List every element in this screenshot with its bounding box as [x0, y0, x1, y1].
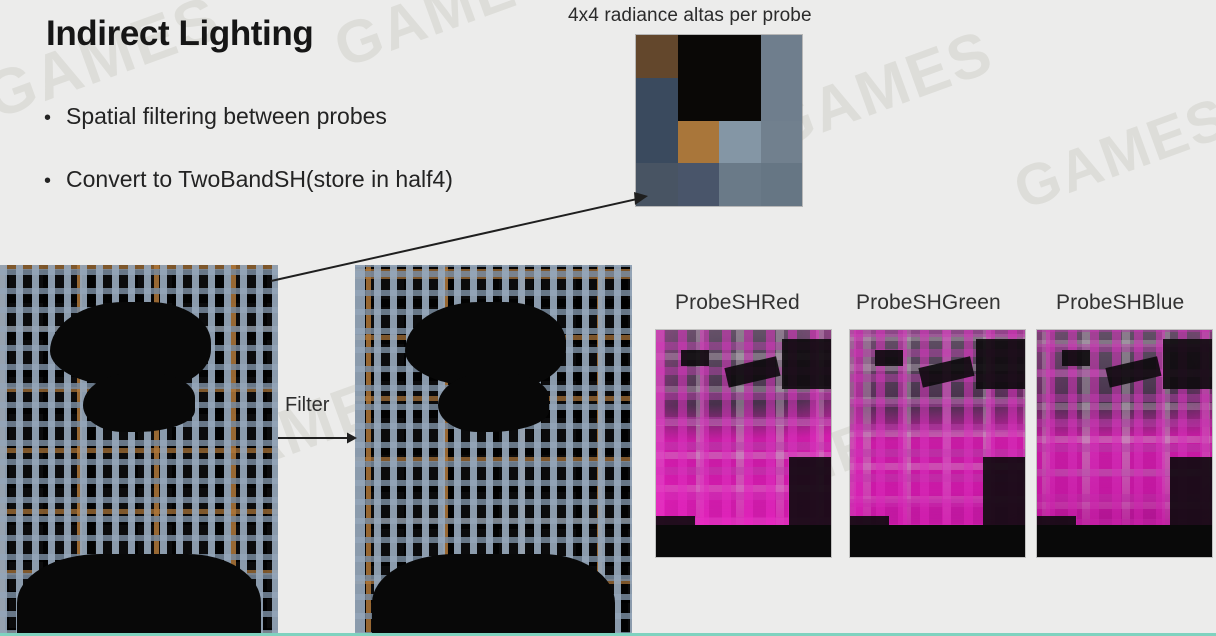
atlas-cell-10 [719, 121, 761, 164]
atlas-cell-3 [761, 35, 803, 78]
bullet-label: Spatial filtering between probes [66, 103, 387, 130]
atlas-cell-7 [761, 78, 803, 121]
probe-to-atlas-arrow-icon [268, 185, 653, 285]
atlas-cell-0 [636, 35, 678, 78]
probe-grid-texture [355, 265, 632, 636]
sh-panel-image-green [850, 330, 1025, 557]
atlas-cell-9 [678, 121, 720, 164]
probe-radiance-raw-image [0, 265, 278, 636]
atlas-cell-11 [761, 121, 803, 164]
probe-grid-texture [0, 265, 278, 636]
atlas-cell-14 [719, 163, 761, 206]
bullet-marker-icon: • [44, 171, 66, 191]
sh-panel-image-red [656, 330, 831, 557]
watermark-text: GAMES [1005, 84, 1216, 223]
sh-panel-image-blue [1037, 330, 1212, 557]
atlas-cell-15 [761, 163, 803, 206]
atlas-cell-13 [678, 163, 720, 206]
atlas-cell-4 [636, 78, 678, 121]
atlas-caption: 4x4 radiance altas per probe [568, 5, 812, 27]
sh-coefficient-field [1037, 330, 1212, 525]
atlas-cell-8 [636, 121, 678, 164]
sh-panel-footer-band [1037, 525, 1212, 557]
bullet-item: • Spatial filtering between probes [44, 103, 387, 130]
sh-panel-label-green: ProbeSHGreen [856, 291, 1001, 315]
sh-coefficient-field [850, 330, 1025, 525]
sh-coefficient-field [656, 330, 831, 525]
sh-panel-label-red: ProbeSHRed [675, 291, 800, 315]
slide-canvas: GAMES GAMES GAMES GAMES GAMES GAMES Indi… [0, 0, 1216, 636]
watermark-text: GAMES [325, 0, 565, 81]
sh-panel-label-blue: ProbeSHBlue [1056, 291, 1184, 315]
sh-panel-footer-band [656, 525, 831, 557]
atlas-cell-5 [678, 78, 720, 121]
filter-label: Filter [285, 394, 329, 417]
filter-arrow-icon [278, 430, 358, 446]
probe-radiance-filtered-image [355, 265, 632, 636]
bullet-marker-icon: • [44, 108, 66, 128]
radiance-atlas-grid [636, 35, 802, 206]
sh-panel-footer-band [850, 525, 1025, 557]
atlas-cell-6 [719, 78, 761, 121]
atlas-cell-2 [719, 35, 761, 78]
slide-title: Indirect Lighting [46, 14, 313, 54]
atlas-cell-1 [678, 35, 720, 78]
